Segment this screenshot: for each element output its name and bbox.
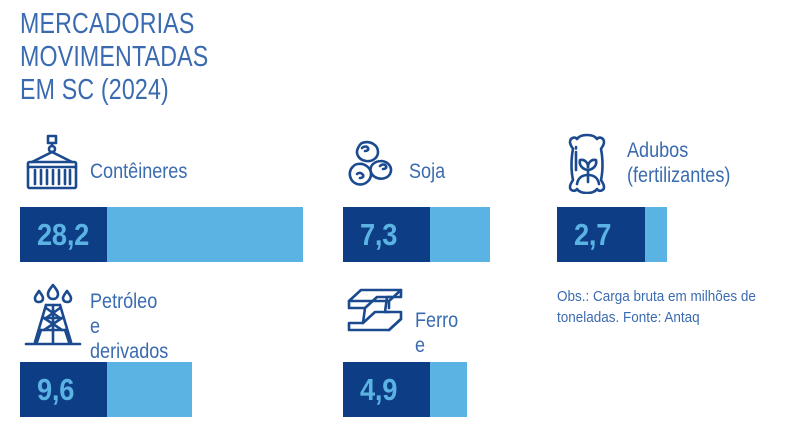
- bar-track-petroleo: [107, 362, 192, 417]
- bar-fill-conteineres: 28,2: [20, 207, 107, 262]
- bar-petroleo: 9,6: [20, 362, 192, 417]
- bar-fill-adubos: 2,7: [557, 207, 645, 262]
- steel-beam-icon: [343, 284, 409, 346]
- bar-value-petroleo: 9,6: [37, 374, 74, 405]
- bar-fill-petroleo: 9,6: [20, 362, 107, 417]
- bar-adubos: 2,7: [557, 207, 667, 262]
- page-title: MERCADORIAS MOVIMENTADAS EM SC (2024): [20, 8, 356, 107]
- fertilizer-sack-icon: [557, 132, 617, 194]
- bar-fill-soja: 7,3: [343, 207, 430, 262]
- bar-value-conteineres: 28,2: [37, 219, 89, 250]
- bar-track-adubos: [645, 207, 667, 262]
- bar-ferro: 4,9: [343, 362, 467, 417]
- soybean-icon: [343, 136, 401, 194]
- bar-soja: 7,3: [343, 207, 490, 262]
- metric-label-conteineres: Contêineres: [90, 159, 187, 184]
- bar-value-soja: 7,3: [360, 219, 397, 250]
- bar-conteineres: 28,2: [20, 207, 303, 262]
- bar-value-ferro: 4,9: [360, 374, 397, 405]
- bar-fill-ferro: 4,9: [343, 362, 430, 417]
- oil-derrick-icon: [22, 282, 84, 352]
- bar-track-ferro: [430, 362, 467, 417]
- bar-track-soja: [430, 207, 490, 262]
- infographic-canvas: MERCADORIAS MOVIMENTADAS EM SC (2024) Co…: [0, 0, 800, 440]
- footnote-source: Obs.: Carga bruta em milhões de tonelada…: [557, 286, 777, 328]
- shipping-container-icon: [20, 132, 84, 196]
- bar-track-conteineres: [107, 207, 303, 262]
- bar-value-adubos: 2,7: [574, 219, 611, 250]
- metric-label-soja: Soja: [409, 159, 445, 184]
- metric-label-adubos: Adubos (fertilizantes): [627, 138, 730, 188]
